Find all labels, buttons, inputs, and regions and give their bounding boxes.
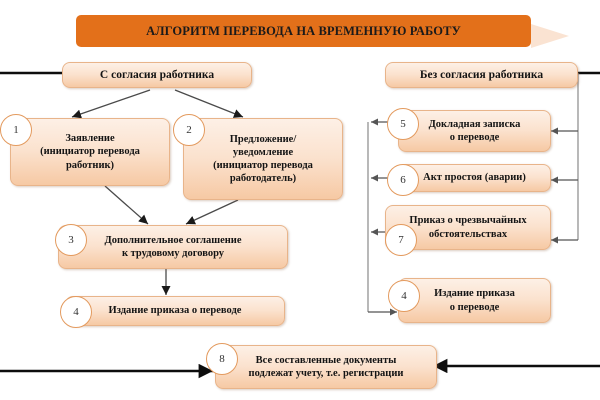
step-box-4-left: Издание приказа о переводе	[65, 296, 285, 326]
step-box-1: Заявление (инициатор перевода работник)	[10, 118, 170, 186]
step-8-label: Все составленные документы подлежат учет…	[243, 354, 410, 380]
step-3-label: Дополнительное соглашение к трудовому до…	[98, 234, 247, 260]
banner-ribbon-decoration	[531, 24, 569, 48]
step-4-right-number-badge: 4	[388, 280, 420, 312]
step-box-3: Дополнительное соглашение к трудовому до…	[58, 225, 288, 269]
step-1-number: 1	[13, 124, 19, 136]
step-4-left-number-badge: 4	[60, 296, 92, 328]
header-box-without-consent: Без согласия работника	[385, 62, 578, 88]
step-3-number-badge: 3	[55, 224, 87, 256]
box2-to-box3	[186, 200, 238, 224]
step-6-label: Акт простоя (аварии)	[417, 171, 532, 184]
step-box-5: Докладная записка о переводе	[398, 110, 551, 152]
connector-lines	[0, 0, 600, 400]
step-7-label: Приказ о чрезвычайных обстоятельствах	[403, 214, 532, 240]
step-4-left-number: 4	[73, 306, 79, 318]
flowchart-canvas: АЛГОРИТМ ПЕРЕВОДА НА ВРЕМЕННУЮ РАБОТУ С …	[0, 0, 600, 400]
step-5-number-badge: 5	[387, 108, 419, 140]
header-box-with-consent: С согласия работника	[62, 62, 252, 88]
left-header-to-box1	[72, 90, 150, 117]
header-with-consent-label: С согласия работника	[94, 68, 220, 82]
box1-to-box3	[105, 186, 148, 224]
step-1-label: Заявление (инициатор перевода работник)	[34, 132, 146, 171]
step-4-left-label: Издание приказа о переводе	[103, 304, 248, 317]
step-box-6: Акт простоя (аварии)	[398, 164, 551, 192]
diagram-title-text: АЛГОРИТМ ПЕРЕВОДА НА ВРЕМЕННУЮ РАБОТУ	[146, 24, 461, 39]
left-header-to-box2	[175, 90, 243, 117]
step-2-label: Предложение/ уведомление (инициатор пере…	[207, 133, 319, 186]
step-2-number: 2	[186, 124, 192, 136]
header-without-consent-label: Без согласия работника	[414, 68, 549, 82]
step-4-right-number: 4	[401, 290, 407, 302]
step-8-number-badge: 8	[206, 343, 238, 375]
step-2-number-badge: 2	[173, 114, 205, 146]
step-7-number-badge: 7	[385, 224, 417, 256]
step-box-8: Все составленные документы подлежат учет…	[215, 345, 437, 389]
step-8-number: 8	[219, 353, 225, 365]
step-box-2: Предложение/ уведомление (инициатор пере…	[183, 118, 343, 200]
step-1-number-badge: 1	[0, 114, 32, 146]
step-6-number-badge: 6	[387, 164, 419, 196]
diagram-title-banner: АЛГОРИТМ ПЕРЕВОДА НА ВРЕМЕННУЮ РАБОТУ	[76, 15, 531, 47]
step-7-number: 7	[398, 234, 404, 246]
right-trunk-line	[551, 73, 600, 240]
step-3-number: 3	[68, 234, 74, 246]
step-5-label: Докладная записка о переводе	[423, 118, 527, 144]
step-5-number: 5	[400, 118, 406, 130]
step-box-4-right: Издание приказа о переводе	[398, 278, 551, 323]
step-6-number: 6	[400, 174, 406, 186]
step-4-right-label: Издание приказа о переводе	[428, 287, 521, 313]
